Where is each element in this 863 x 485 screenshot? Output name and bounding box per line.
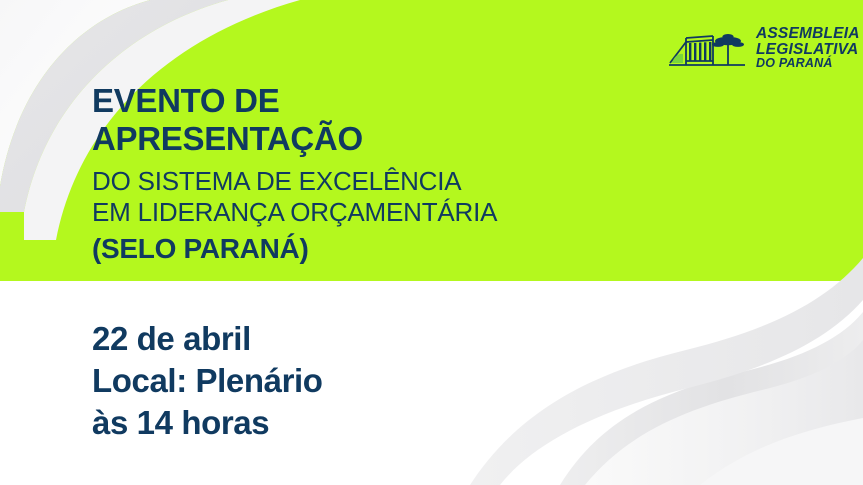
logo: ASSEMBLEIA LEGISLATIVA DO PARANÁ bbox=[666, 21, 846, 75]
logo-line-1: ASSEMBLEIA bbox=[756, 26, 860, 42]
logo-wordmark: ASSEMBLEIA LEGISLATIVA DO PARANÁ bbox=[756, 26, 860, 70]
assembleia-building-icon bbox=[666, 23, 748, 73]
subtitle-line-2: EM LIDERANÇA ORÇAMENTÁRIA bbox=[92, 197, 497, 228]
logo-line-3: DO PARANÁ bbox=[756, 57, 860, 70]
event-poster: ASSEMBLEIA LEGISLATIVA DO PARANÁ EVENTO … bbox=[0, 0, 863, 485]
subtitle-line-3: (SELO PARANÁ) bbox=[92, 232, 497, 266]
event-time: às 14 horas bbox=[92, 402, 323, 444]
title-line-2: APRESENTAÇÃO bbox=[92, 120, 497, 158]
headline-block: EVENTO DE APRESENTAÇÃO DO SISTEMA DE EXC… bbox=[92, 82, 497, 266]
title-line-1: EVENTO DE bbox=[92, 82, 497, 120]
logo-line-2: LEGISLATIVA bbox=[756, 42, 860, 58]
subtitle-line-1: DO SISTEMA DE EXCELÊNCIA bbox=[92, 166, 497, 197]
event-details-block: 22 de abril Local: Plenário às 14 horas bbox=[92, 318, 323, 444]
event-date: 22 de abril bbox=[92, 318, 323, 360]
event-location: Local: Plenário bbox=[92, 360, 323, 402]
